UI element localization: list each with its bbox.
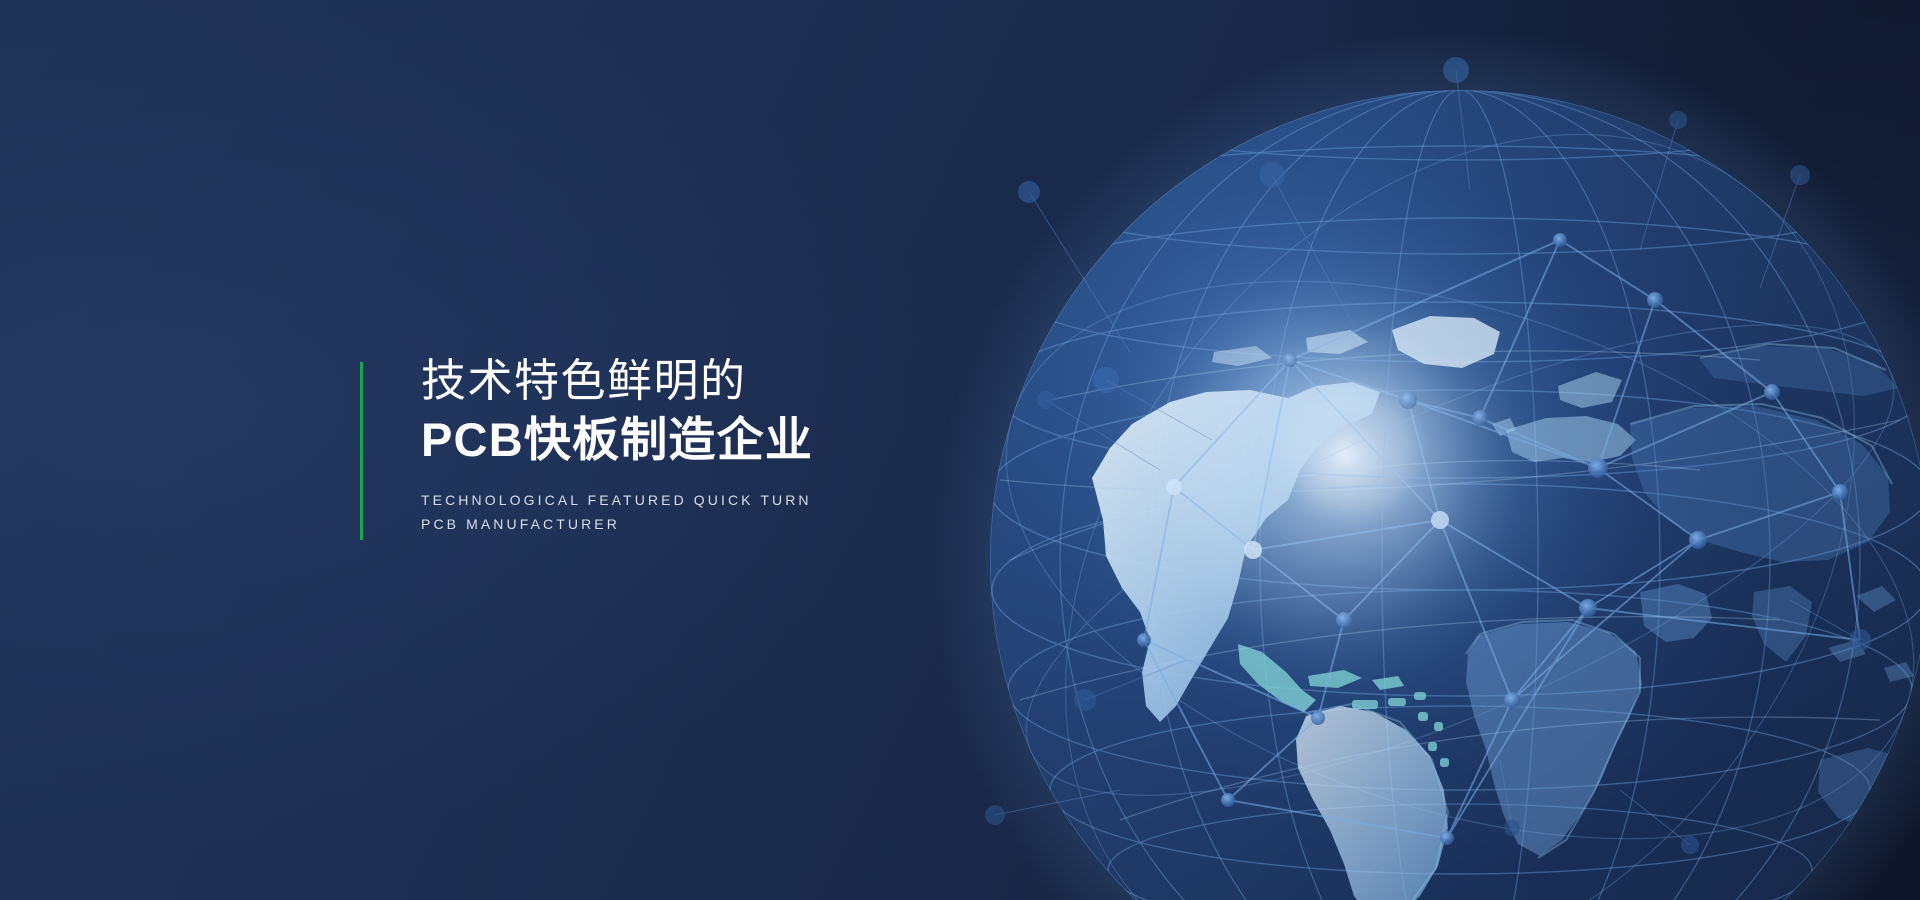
hero-banner: 技术特色鲜明的 PCB快板制造企业 TECHNOLOGICAL FEATURED… [0,0,1920,900]
hero-copy-block: 技术特色鲜明的 PCB快板制造企业 TECHNOLOGICAL FEATURED… [360,356,1120,537]
page-subtitle-line-1: TECHNOLOGICAL FEATURED QUICK TURN [421,488,1120,513]
green-accent-bar [360,362,363,540]
page-title-line-2: PCB快板制造企业 [421,412,1120,467]
page-title-line-1: 技术特色鲜明的 [421,356,1120,406]
page-subtitle-line-2: PCB MANUFACTURER [421,512,1120,537]
page-subtitle: TECHNOLOGICAL FEATURED QUICK TURN PCB MA… [421,488,1120,537]
